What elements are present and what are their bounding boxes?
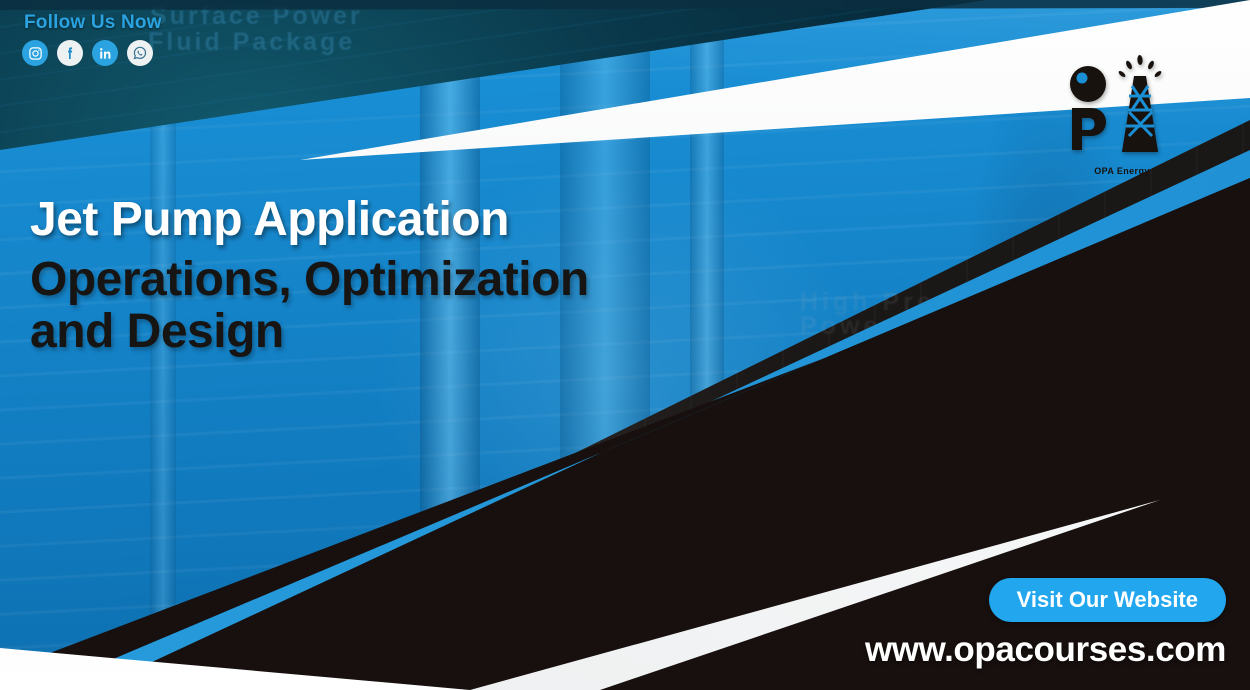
title-block: Jet Pump Application Operations, Optimiz… [30, 196, 770, 358]
instagram-icon[interactable] [22, 40, 48, 66]
promotional-banner: Surface Power Fluid Package High Pressur… [0, 0, 1250, 690]
page-subtitle: Operations, Optimization and Design [30, 254, 770, 358]
whatsapp-icon[interactable] [127, 40, 153, 66]
follow-us-label: Follow Us Now [24, 12, 162, 34]
opa-energy-logo[interactable]: OPA Energy [1062, 52, 1182, 174]
facebook-icon[interactable] [57, 40, 83, 66]
visit-website-button[interactable]: Visit Our Website [989, 578, 1226, 622]
subtitle-line-2: and Design [30, 306, 770, 358]
subtitle-line-1: Operations, Optimization [30, 254, 770, 306]
page-title: Jet Pump Application [30, 196, 770, 244]
follow-us-section: Follow Us Now [22, 12, 162, 66]
website-url[interactable]: www.opacourses.com [865, 630, 1226, 670]
logo-name: OPA Energy [1062, 166, 1182, 176]
linkedin-icon[interactable] [92, 40, 118, 66]
social-icons-row [22, 40, 162, 66]
